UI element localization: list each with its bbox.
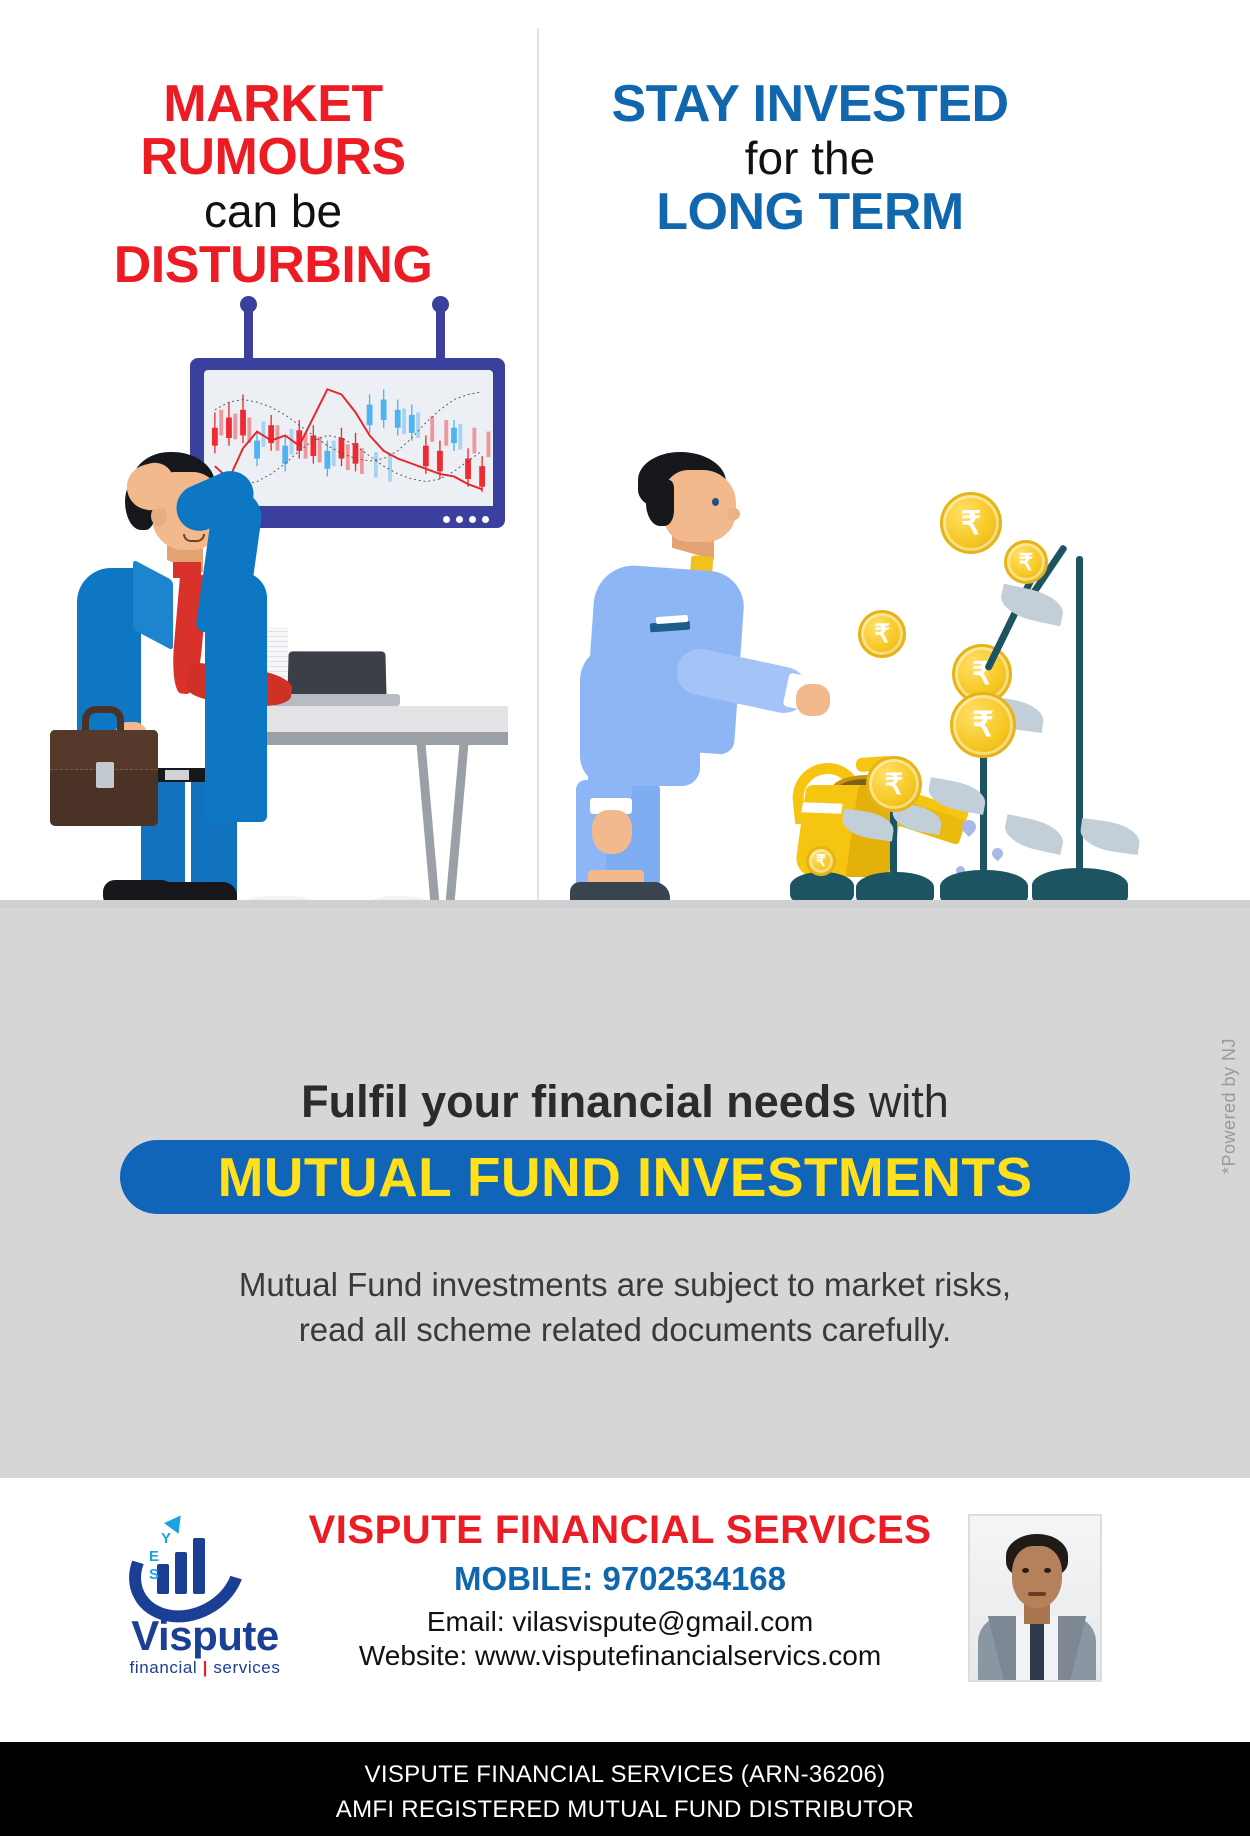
advisor-photo (968, 1514, 1102, 1682)
plant-leaf (1078, 818, 1141, 855)
headline-left: MARKET RUMOURS can be DISTURBING (28, 78, 518, 292)
contact-details: VISPUTE FINANCIAL SERVICES MOBILE: 97025… (300, 1508, 940, 1672)
worried-businessman (55, 450, 285, 920)
water-drop (990, 846, 1006, 862)
monitor-mount-rod-left (244, 306, 253, 362)
desk-leg (417, 744, 441, 914)
monitor-dot (482, 516, 489, 523)
headline-left-line3: DISTURBING (28, 239, 518, 292)
message-section: Fulfil your financial needs with MUTUAL … (0, 908, 1250, 1478)
briefcase-lock (96, 762, 114, 788)
investor-businessman (560, 450, 790, 920)
floor-line (0, 900, 1250, 908)
headline-right-line1: STAY INVESTED (580, 78, 1040, 131)
logo-bar-icon (175, 1552, 187, 1594)
rupee-coin: ₹ (806, 846, 836, 876)
vertical-divider (537, 28, 539, 908)
monitor-dot (456, 516, 463, 523)
footer-line1: VISPUTE FINANCIAL SERVICES (ARN-36206) (0, 1758, 1250, 1793)
mutual-fund-banner-text: MUTUAL FUND INVESTMENTS (218, 1145, 1033, 1209)
contact-mobile[interactable]: MOBILE: 9702534168 (300, 1560, 940, 1598)
headline-right: STAY INVESTED for the LONG TERM (580, 78, 1040, 239)
footer-line2: AMFI REGISTERED MUTUAL FUND DISTRIBUTOR (0, 1793, 1250, 1828)
face (664, 470, 736, 542)
logo-letter-s: S (149, 1566, 159, 1583)
powered-by-label: *Powered by NJ (1219, 1038, 1240, 1174)
risk-disclaimer: Mutual Fund investments are subject to m… (0, 1263, 1250, 1352)
photo-eye-right (1044, 1568, 1051, 1573)
hand-right (796, 684, 830, 716)
desk-leg (445, 744, 469, 914)
rupee-coin: ₹ (858, 610, 906, 658)
laptop-screen (287, 651, 386, 699)
contact-section: Y E S Vispute financial | services VISPU… (0, 1478, 1250, 1742)
rupee-coin: ₹ (1004, 540, 1048, 584)
rupee-coin: ₹ (940, 492, 1002, 554)
photo-eye-left (1022, 1568, 1029, 1573)
soil-mound (790, 872, 854, 902)
hand-left (592, 810, 632, 854)
headline-right-line2: for the (580, 135, 1040, 182)
logo-letter-e: E (149, 1548, 159, 1565)
hair-side (646, 480, 674, 526)
logo-letter-y: Y (161, 1530, 171, 1547)
monitor-dot (469, 516, 476, 523)
logo-bar-icon (193, 1538, 205, 1594)
contact-email[interactable]: Email: vilasvispute@gmail.com (300, 1606, 940, 1638)
hero-illustration-section: MARKET RUMOURS can be DISTURBING STAY IN… (0, 0, 1250, 900)
belt-buckle (165, 770, 189, 780)
company-logo: Y E S Vispute financial | services (105, 1508, 305, 1698)
photo-face (1012, 1546, 1062, 1608)
fulfil-rest: with (856, 1076, 949, 1127)
risk-disclaimer-line2: read all scheme related documents carefu… (0, 1308, 1250, 1353)
fulfil-headline: Fulfil your financial needs with (0, 1076, 1250, 1128)
headline-left-line2: can be (28, 188, 518, 235)
mutual-fund-banner: MUTUAL FUND INVESTMENTS (120, 1140, 1130, 1214)
rupee-coin: ₹ (950, 692, 1016, 758)
rupee-coin: ₹ (866, 756, 922, 812)
monitor-dot (443, 516, 450, 523)
plant-leaf (1002, 814, 1067, 855)
headline-left-line1: MARKET RUMOURS (28, 78, 518, 184)
footer-bar: VISPUTE FINANCIAL SERVICES (ARN-36206) A… (0, 1742, 1250, 1836)
logo-tagline-left: financial (130, 1658, 198, 1677)
logo-wordmark: Vispute (105, 1612, 305, 1660)
contact-website[interactable]: Website: www.visputefinancialservics.com (300, 1640, 940, 1672)
fulfil-bold: Fulfil your financial needs (301, 1076, 856, 1127)
monitor-indicator-dots (443, 516, 489, 523)
logo-tagline: financial | services (105, 1658, 305, 1678)
watering-can-stripe (801, 802, 843, 813)
nose (728, 508, 740, 520)
logo-tagline-separator: | (203, 1658, 208, 1677)
headline-right-line3: LONG TERM (580, 186, 1040, 239)
monitor-mount-rod-right (436, 306, 445, 362)
photo-mouth (1028, 1592, 1046, 1596)
risk-disclaimer-line1: Mutual Fund investments are subject to m… (0, 1263, 1250, 1308)
eye (712, 498, 719, 506)
photo-tie (1030, 1622, 1044, 1682)
contact-company-name: VISPUTE FINANCIAL SERVICES (300, 1508, 940, 1553)
logo-tagline-right: services (213, 1658, 280, 1677)
